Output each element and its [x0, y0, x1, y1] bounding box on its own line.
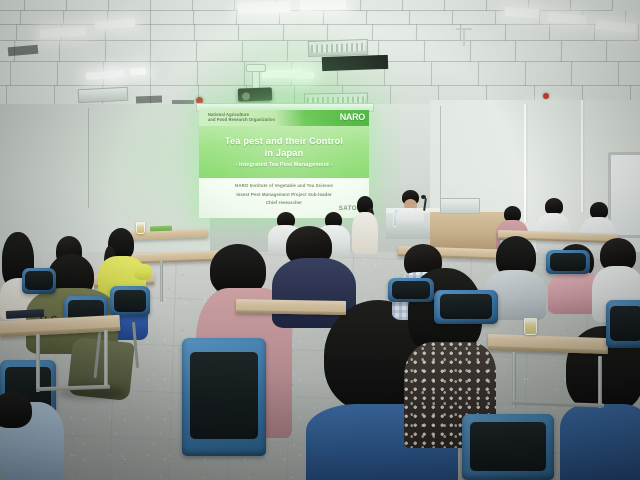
chair	[606, 300, 640, 348]
ceiling-tile	[618, 62, 640, 86]
podium	[440, 198, 480, 214]
ceiling-light-panel	[108, 70, 124, 78]
ceiling-tile	[469, 41, 516, 62]
chair	[22, 268, 56, 294]
chair-pad	[25, 271, 53, 290]
ceiling-tile	[0, 11, 22, 25]
ceiling-tile	[431, 62, 479, 86]
chair-back	[606, 300, 640, 348]
ceiling-tile	[194, 24, 240, 41]
projector-lens-icon	[242, 92, 250, 100]
chair-pad	[550, 253, 586, 271]
chair-pad	[610, 306, 640, 342]
ceiling-tile	[59, 41, 106, 62]
ceiling-tile	[366, 11, 411, 25]
ceiling-tile	[560, 41, 607, 62]
chair-back	[462, 414, 554, 480]
ceiling-tile	[372, 24, 418, 41]
chair	[110, 286, 150, 316]
slide-title-block: Tea pest and their Control in Japan - In…	[199, 126, 369, 178]
slide-subtitle: - Integrated Tea Pest Management -	[235, 162, 332, 168]
ceiling-tile	[20, 11, 65, 25]
ceiling-vent-dark	[136, 96, 162, 104]
desk-center	[236, 299, 346, 315]
ceiling-tile	[239, 24, 285, 41]
ceiling-tile	[150, 0, 193, 11]
ceiling-tile	[571, 62, 619, 86]
chair	[546, 250, 590, 274]
chair-back	[434, 290, 498, 324]
ceiling-air-vent	[308, 39, 369, 57]
projector-mount	[246, 64, 266, 72]
chair-pad	[114, 290, 147, 312]
audience-person	[396, 190, 424, 226]
projection-screen: National Agriculture and Food Research O…	[199, 110, 369, 218]
ceiling-light-panel	[130, 68, 146, 76]
slide-affiliation-2: Insect Pest Management Project Sub-leade…	[236, 192, 331, 197]
chair-back	[182, 338, 266, 456]
ceiling-light-panel	[300, 0, 346, 11]
tea-glass	[524, 318, 537, 335]
chair-pad	[440, 294, 492, 319]
chair	[434, 290, 498, 324]
ceiling-tile	[108, 0, 151, 11]
wall-panel-seam	[88, 108, 89, 208]
audience-person	[0, 392, 80, 480]
wall-panel-seam	[581, 100, 583, 212]
slide-affiliation-3: Chief researcher	[266, 200, 302, 205]
desk-leg	[104, 330, 108, 386]
ceiling-tile	[0, 24, 18, 41]
desk-leg	[160, 260, 163, 302]
ceiling-tile	[66, 0, 109, 11]
ceiling-tile	[150, 41, 197, 62]
desk-leg	[598, 356, 602, 408]
conference-room-photo: National Agriculture and Food Research O…	[0, 0, 640, 480]
ceiling-tile	[104, 41, 151, 62]
ceiling-tile	[197, 62, 245, 86]
ceiling-tile	[505, 24, 551, 41]
green-notebook	[150, 226, 172, 232]
ceiling-tile	[524, 62, 572, 86]
ceiling-tile	[416, 24, 462, 41]
ceiling-light-panel	[238, 1, 290, 14]
chair	[388, 278, 434, 302]
slide-header-band: National Agriculture and Food Research O…	[199, 110, 369, 126]
ceiling-tile	[360, 0, 403, 11]
chair-back	[110, 286, 150, 316]
ceiling-tile	[195, 41, 242, 62]
ceiling-tile	[570, 0, 613, 11]
ceiling-tile	[606, 41, 640, 62]
ceiling-tile	[452, 11, 497, 25]
ceiling-tile	[150, 62, 198, 86]
ceiling-pipe	[463, 30, 465, 46]
ceiling-tile	[241, 41, 288, 62]
ceiling-tile	[150, 11, 195, 25]
ceiling-air-vent	[78, 87, 129, 104]
chair-back	[22, 268, 56, 294]
ceiling-tile	[402, 0, 445, 11]
ceiling-tile	[10, 62, 58, 86]
naro-logo: NARO	[340, 112, 365, 122]
head-hair	[0, 392, 32, 428]
slide-organization: National Agriculture and Food Research O…	[199, 113, 275, 123]
ceiling-tile	[192, 0, 235, 11]
ceiling-tile	[384, 62, 432, 86]
ceiling-tile	[24, 0, 67, 11]
ceiling-tile	[283, 24, 329, 41]
slide-title-line2: in Japan	[265, 148, 304, 158]
slide-affiliation-1: NARO Institute of Vegetable and Tea Scie…	[235, 183, 333, 188]
ceiling-tile	[323, 11, 368, 25]
torso	[396, 208, 424, 228]
ceiling-tile	[478, 62, 526, 86]
chair-pad	[392, 281, 430, 299]
arm	[134, 264, 152, 280]
ceiling-tile	[150, 24, 196, 41]
slide-title-line1: Tea pest and their Control	[225, 136, 343, 146]
projector	[238, 87, 272, 101]
torso	[560, 404, 640, 480]
chair-pad	[190, 352, 259, 439]
chair	[462, 414, 554, 480]
wall-panel-seam	[524, 104, 526, 222]
ceiling-vent-dark	[322, 55, 388, 71]
ceiling-tile	[549, 24, 595, 41]
ceiling-tile	[444, 0, 487, 11]
ceiling-tile	[193, 11, 238, 25]
chair-back	[388, 278, 434, 302]
chair-back	[546, 250, 590, 274]
chair	[182, 338, 266, 456]
ceiling-tile	[279, 11, 324, 25]
desk-leg	[36, 334, 40, 392]
ceiling-tile	[461, 24, 507, 41]
presentation-slide: National Agriculture and Food Research O…	[199, 110, 369, 218]
chair-pad	[470, 422, 545, 471]
sprinkler-head-icon	[543, 93, 549, 99]
ceiling-tile	[0, 0, 25, 11]
ceiling-pipe	[456, 28, 472, 30]
ceiling-tile	[515, 41, 562, 62]
ceiling-tile	[409, 11, 454, 25]
ceiling-light-panel	[296, 72, 314, 79]
